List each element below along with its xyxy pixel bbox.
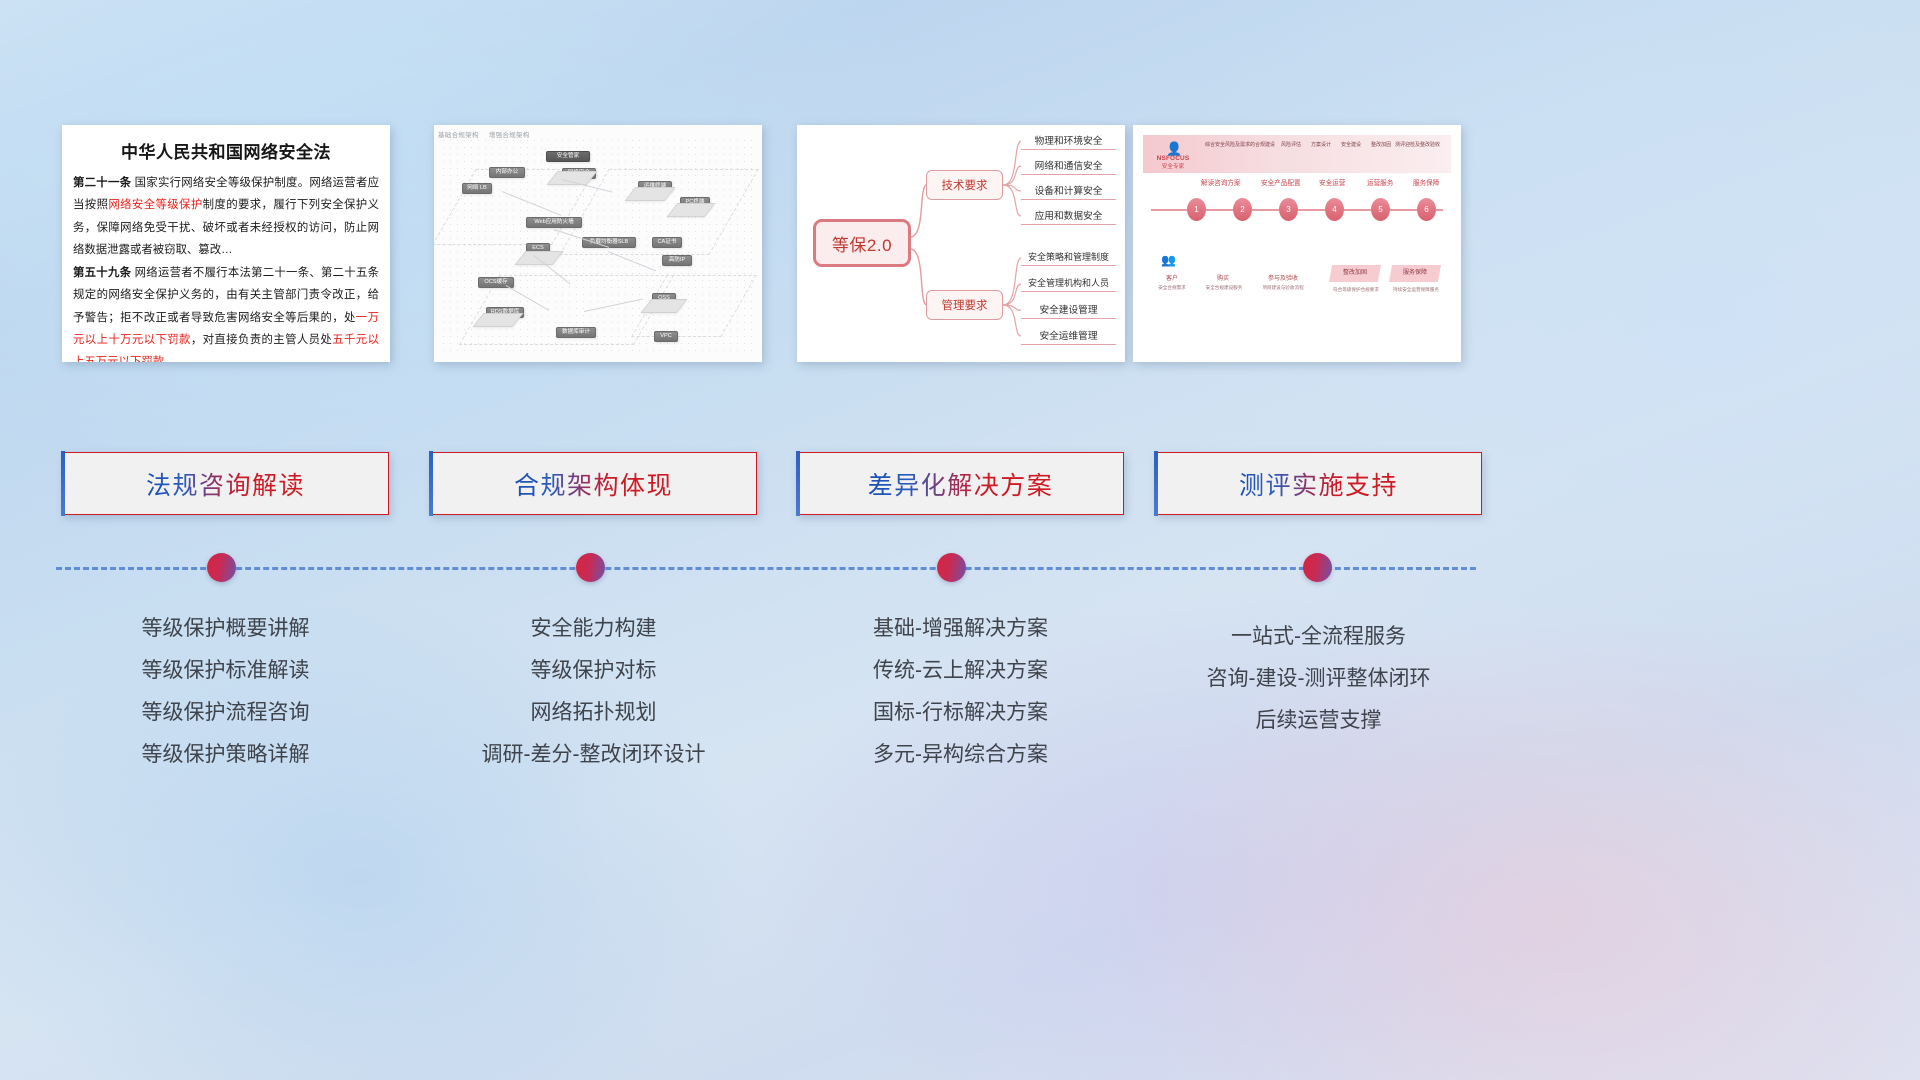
list-item: 调研-差分-整改闭环设计 [430,734,757,776]
timeline-marker-2[interactable] [576,553,605,582]
pillar-title-box-4[interactable]: 测评实施支持 [1155,452,1482,515]
pillar-items-3: 基础-增强解决方案 传统-云上解决方案 国标-行标解决方案 多元-异构综合方案 [797,608,1124,776]
pillar-items-1: 等级保护概要讲解 等级保护标准解读 等级保护流程咨询 等级保护策略详解 [62,608,389,776]
pillar-items-4: 一站式-全流程服务 咨询-建设-测评整体闭环 后续运营支撑 [1155,608,1482,742]
list-item: 安全能力构建 [430,608,757,650]
pillar-title-box-2[interactable]: 合规架构体现 [430,452,757,515]
list-item: 等级保护概要讲解 [62,608,389,650]
timeline-marker-3[interactable] [937,553,966,582]
list-item: 一站式-全流程服务 [1155,616,1482,658]
pillar-title-box-1[interactable]: 法规咨询解读 [62,452,389,515]
list-item: 网络拓扑规划 [430,692,757,734]
pillar-title-4: 测评实施支持 [1239,466,1398,502]
pillar-title-1: 法规咨询解读 [146,466,305,502]
list-item: 传统-云上解决方案 [797,650,1124,692]
list-item: 等级保护流程咨询 [62,692,389,734]
pillar-items-2: 安全能力构建 等级保护对标 网络拓扑规划 调研-差分-整改闭环设计 [430,608,757,776]
list-item: 等级保护对标 [430,650,757,692]
timeline-marker-1[interactable] [207,553,236,582]
list-item: 基础-增强解决方案 [797,608,1124,650]
list-item: 等级保护策略详解 [62,734,389,776]
timeline-dashed-line [56,567,1476,570]
list-item: 等级保护标准解读 [62,650,389,692]
list-item: 多元-异构综合方案 [797,734,1124,776]
list-item: 后续运营支撑 [1155,700,1482,742]
pillar-titles: 法规咨询解读 合规架构体现 差异化解决方案 测评实施支持 [0,0,1920,1080]
list-item: 国标-行标解决方案 [797,692,1124,734]
timeline-marker-4[interactable] [1303,553,1332,582]
list-item: 咨询-建设-测评整体闭环 [1155,658,1482,700]
pillar-title-2: 合规架构体现 [514,466,673,502]
pillar-title-3: 差异化解决方案 [868,466,1054,502]
pillar-title-box-3[interactable]: 差异化解决方案 [797,452,1124,515]
